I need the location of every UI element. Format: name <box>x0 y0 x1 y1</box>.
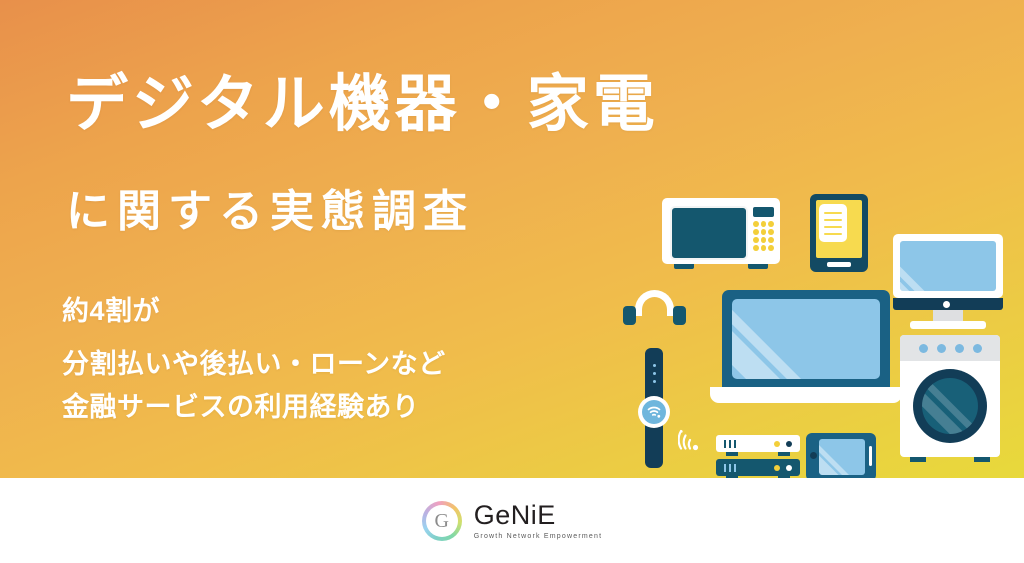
microwave-key <box>761 237 767 243</box>
washer-foot <box>974 457 990 462</box>
wifi-signal-icon <box>678 428 704 459</box>
microwave-door <box>670 206 748 260</box>
door-glare <box>922 378 978 434</box>
smartwatch-icon <box>638 348 670 468</box>
logo-tagline: Growth Network Empowerment <box>474 533 602 540</box>
logo-wordmark: GeNiE <box>474 502 602 529</box>
genie-logo-mark-icon: G <box>422 501 462 541</box>
washer-foot <box>910 457 926 462</box>
router-unit-bottom <box>716 459 800 476</box>
headphones-earcup-right <box>673 306 686 325</box>
page-title: デジタル機器・家電 <box>66 74 659 136</box>
router-vent <box>729 464 731 472</box>
microwave-foot <box>748 264 768 269</box>
desktop-monitor-icon <box>893 234 1003 329</box>
headphones-headband <box>635 290 674 316</box>
router-vent <box>734 440 736 448</box>
lead-line-3: 金融サービスの利用経験あり <box>62 386 446 429</box>
screen-glare <box>732 299 880 379</box>
tablet-camera <box>810 452 817 459</box>
router-led <box>786 465 792 471</box>
smartwatch-face <box>638 396 670 428</box>
screen-glare <box>900 241 996 291</box>
router-foot <box>726 452 738 456</box>
document-text-line <box>824 226 842 228</box>
router-vent <box>734 464 736 472</box>
microwave-key <box>761 245 767 251</box>
microwave-keypad <box>753 221 774 251</box>
laptop-screen <box>732 299 880 379</box>
microwave-key <box>753 237 759 243</box>
microwave-key <box>761 221 767 227</box>
router-led <box>774 441 780 447</box>
hero-banner: デジタル機器・家電 に関する実態調査 約4割が 分割払いや後払い・ローンなど 金… <box>0 0 1024 478</box>
microwave-key <box>768 237 774 243</box>
wifi-icon <box>646 405 662 419</box>
router-unit-top <box>716 435 800 452</box>
device-illustration-group <box>610 180 1020 478</box>
microwave-key <box>768 245 774 251</box>
microwave-key <box>753 245 759 251</box>
slide-canvas: デジタル機器・家電 に関する実態調査 約4割が 分割払いや後払い・ローンなど 金… <box>0 0 1024 563</box>
headphones-icon <box>623 290 686 325</box>
strap-hole <box>653 372 656 375</box>
monitor-screen <box>900 241 996 291</box>
microwave-key <box>753 229 759 235</box>
router-led <box>774 465 780 471</box>
headphones-earcup-left <box>623 306 636 325</box>
microwave-display <box>753 207 774 217</box>
lead-text-block: 約4割が 分割払いや後払い・ローンなど 金融サービスの利用経験あり <box>62 290 446 430</box>
tablet-side-button <box>869 446 872 466</box>
washer-knob <box>919 344 928 353</box>
router-vent <box>724 440 726 448</box>
monitor-power-indicator <box>943 301 950 308</box>
smartwatch-strap-holes <box>653 364 656 383</box>
strap-hole <box>653 364 656 367</box>
genie-logo[interactable]: G GeNiE Growth Network Empowerment <box>422 501 602 541</box>
logo-text-block: GeNiE Growth Network Empowerment <box>474 502 602 540</box>
router-vent <box>729 440 731 448</box>
microwave-key <box>761 229 767 235</box>
lead-line-2: 分割払いや後払い・ローンなど <box>62 343 446 386</box>
washer-knob <box>955 344 964 353</box>
microwave-foot <box>674 264 694 269</box>
footer-bar: G GeNiE Growth Network Empowerment <box>0 478 1024 563</box>
washing-machine-icon <box>900 335 1000 465</box>
microwave-oven-icon <box>662 198 780 270</box>
washer-door-glass <box>922 378 978 434</box>
tablet-screen <box>819 439 865 475</box>
smartwatch-screen <box>642 400 666 424</box>
washer-knob <box>973 344 982 353</box>
e-reader-home-button <box>827 262 851 267</box>
strap-hole <box>653 380 656 383</box>
document-text-line <box>824 233 842 235</box>
router-vents <box>724 440 736 448</box>
e-reader-document <box>819 204 847 242</box>
document-text-line <box>824 212 842 214</box>
microwave-key <box>768 221 774 227</box>
logo-mark-letter: G <box>435 511 449 531</box>
laptop-computer-icon <box>710 290 902 408</box>
document-text-line <box>824 219 842 221</box>
router-led <box>786 441 792 447</box>
e-reader-tablet-icon <box>810 194 868 272</box>
washer-control-panel <box>900 335 1000 361</box>
laptop-base <box>710 387 902 403</box>
router-vents <box>724 464 736 472</box>
microwave-key <box>753 221 759 227</box>
washer-door-ring <box>913 369 987 443</box>
tablet-landscape-icon <box>806 433 876 478</box>
washer-knob <box>937 344 946 353</box>
monitor-stand-base <box>910 321 986 329</box>
router-foot <box>778 452 790 456</box>
microwave-key <box>768 229 774 235</box>
wifi-router-icon <box>712 435 804 478</box>
router-vent <box>724 464 726 472</box>
screen-glare <box>819 439 865 475</box>
page-subtitle: に関する実態調査 <box>66 190 474 234</box>
lead-line-1: 約4割が <box>62 290 446 333</box>
